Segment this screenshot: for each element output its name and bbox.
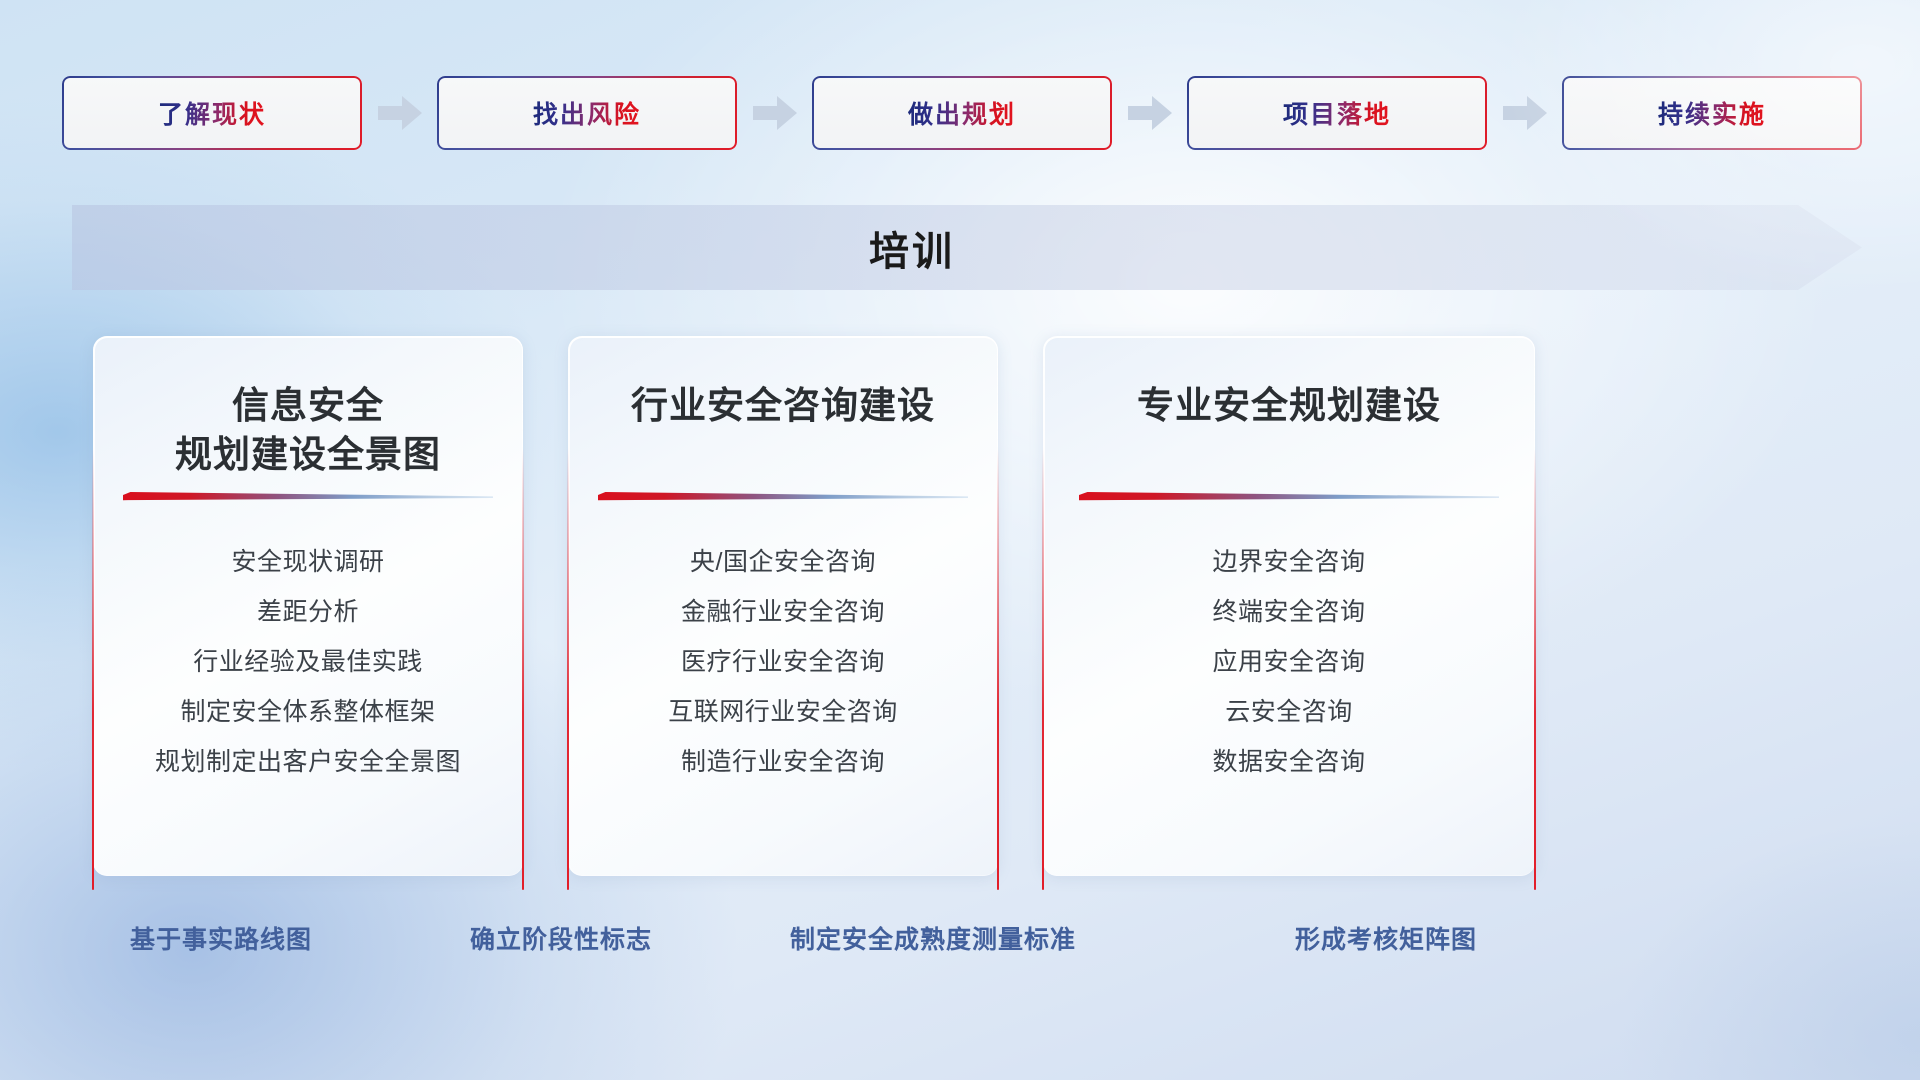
step-box-5[interactable]: 持续实施 [1562, 76, 1862, 150]
step-label-5: 持续实施 [1658, 95, 1766, 131]
card-divider-3 [1079, 492, 1499, 504]
card-title-2: 行业安全咨询建设 [568, 382, 998, 431]
card-2[interactable]: 行业安全咨询建设 [568, 336, 998, 876]
step-label-3: 做出规划 [908, 95, 1016, 131]
card-right-accent-line [1534, 448, 1536, 890]
right-arrow-icon [737, 93, 812, 133]
process-steps-row: 了解现状 找出风险 做出规划 项目落地 持续实施 [62, 76, 1862, 150]
card-item: 云安全咨询 [1225, 691, 1353, 733]
footer-label-2: 确立阶段性标志 [470, 920, 652, 956]
card-right-accent-line [522, 448, 524, 890]
right-arrow-icon [1487, 93, 1562, 133]
card-left-accent-line [1042, 448, 1044, 890]
card-left-accent-line [92, 448, 94, 890]
card-item: 医疗行业安全咨询 [681, 641, 885, 683]
card-item: 行业经验及最佳实践 [193, 641, 423, 683]
card-item: 应用安全咨询 [1212, 641, 1365, 683]
card-item: 差距分析 [257, 591, 359, 633]
card-3[interactable]: 专业安全规划建设 [1043, 336, 1535, 876]
step-box-4[interactable]: 项目落地 [1187, 76, 1487, 150]
card-items-1: 安全现状调研 差距分析 行业经验及最佳实践 制定安全体系整体框架 规划制定出客户… [107, 541, 509, 783]
training-banner: 培训 [72, 205, 1862, 290]
footer-label-1: 基于事实路线图 [130, 920, 312, 956]
slide-canvas: 了解现状 找出风险 做出规划 项目落地 持续实施 培训 [0, 0, 1920, 1080]
card-divider-2 [598, 492, 968, 504]
step-label-2: 找出风险 [533, 95, 641, 131]
step-box-2[interactable]: 找出风险 [437, 76, 737, 150]
footer-label-3: 制定安全成熟度测量标准 [790, 920, 1076, 956]
card-item: 边界安全咨询 [1212, 541, 1365, 583]
card-items-2: 央/国企安全咨询 金融行业安全咨询 医疗行业安全咨询 互联网行业安全咨询 制造行… [582, 541, 984, 783]
card-item: 制造行业安全咨询 [681, 741, 885, 783]
card-item: 央/国企安全咨询 [690, 541, 876, 583]
card-item: 安全现状调研 [231, 541, 384, 583]
step-label-4: 项目落地 [1283, 95, 1391, 131]
card-title-1: 信息安全 规划建设全景图 [93, 382, 523, 480]
card-items-3: 边界安全咨询 终端安全咨询 应用安全咨询 云安全咨询 数据安全咨询 [1057, 541, 1521, 783]
card-1[interactable]: 信息安全 规划建设全景图 [93, 336, 523, 876]
banner-label: 培训 [72, 205, 1862, 290]
step-box-1[interactable]: 了解现状 [62, 76, 362, 150]
card-item: 制定安全体系整体框架 [180, 691, 435, 733]
footer-label-4: 形成考核矩阵图 [1295, 920, 1477, 956]
card-item: 互联网行业安全咨询 [668, 691, 898, 733]
cards-row: 信息安全 规划建设全景图 [0, 336, 1920, 876]
right-arrow-icon [1112, 93, 1187, 133]
step-label-1: 了解现状 [158, 95, 266, 131]
card-item: 终端安全咨询 [1212, 591, 1365, 633]
card-left-accent-line [567, 448, 569, 890]
card-title-3: 专业安全规划建设 [1043, 382, 1535, 431]
card-item: 金融行业安全咨询 [681, 591, 885, 633]
card-item: 规划制定出客户安全全景图 [155, 741, 461, 783]
step-box-3[interactable]: 做出规划 [812, 76, 1112, 150]
card-item: 数据安全咨询 [1212, 741, 1365, 783]
right-arrow-icon [362, 93, 437, 133]
card-divider-1 [123, 492, 493, 504]
footer-labels-row: 基于事实路线图 确立阶段性标志 制定安全成熟度测量标准 形成考核矩阵图 [0, 920, 1920, 970]
card-right-accent-line [997, 448, 999, 890]
